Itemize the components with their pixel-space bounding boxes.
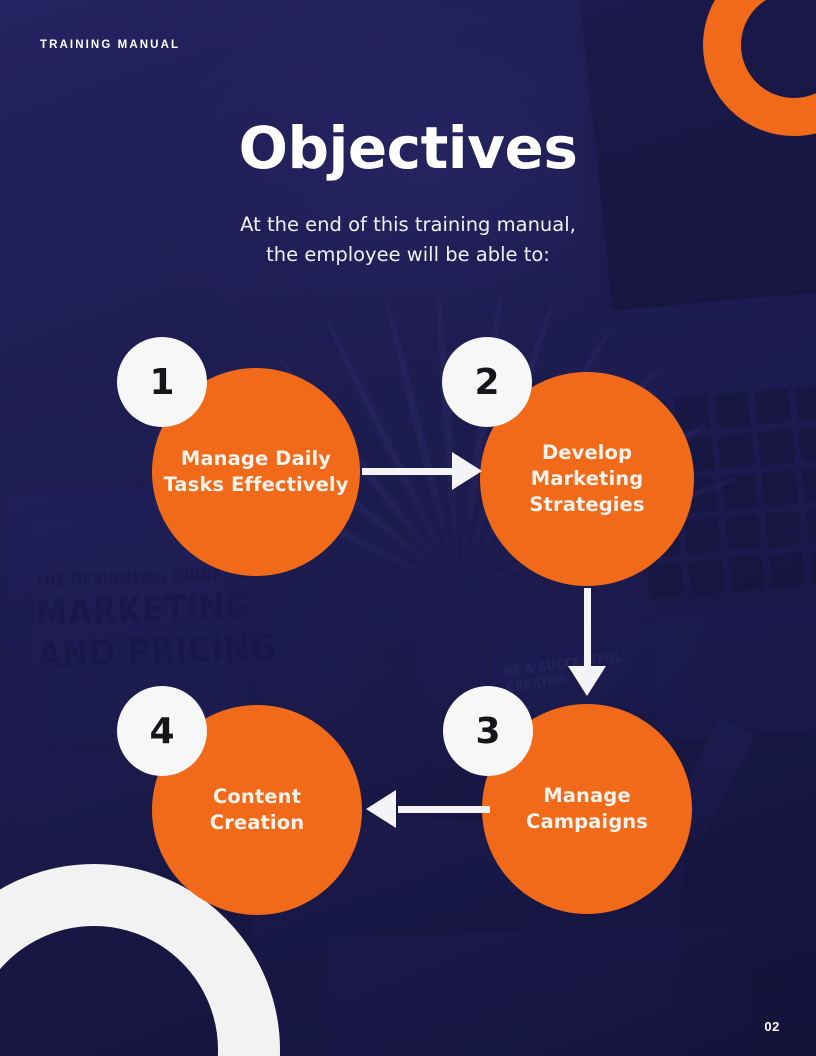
page-title: Objectives <box>0 114 816 182</box>
objective-badge-3: 3 <box>443 686 533 776</box>
objective-label-4-line1: Content <box>210 784 304 810</box>
objective-label-3-line2: Campaigns <box>526 809 648 835</box>
arrow-head <box>452 452 482 490</box>
objective-label-1-line2: Tasks Effectively <box>163 472 348 498</box>
arrow-shaft <box>584 588 591 674</box>
objective-label-4: Content Creation <box>210 784 304 836</box>
arrow-shaft <box>398 806 490 813</box>
page-subtitle: At the end of this training manual, the … <box>0 210 816 270</box>
objective-label-1: Manage Daily Tasks Effectively <box>163 446 348 498</box>
header-kicker: TRAINING MANUAL <box>40 39 180 51</box>
objective-badge-1: 1 <box>117 337 207 427</box>
subtitle-line-2: the employee will be able to: <box>0 240 816 270</box>
objective-label-2-line1: Develop <box>529 440 644 466</box>
objective-label-2-line2: Marketing <box>529 466 644 492</box>
objective-label-3: Manage Campaigns <box>526 783 648 835</box>
objective-label-2-line3: Strategies <box>529 492 644 518</box>
arrow-head <box>366 790 396 828</box>
objective-badge-2: 2 <box>442 337 532 427</box>
arrow-head <box>568 666 606 696</box>
objective-label-1-line1: Manage Daily <box>163 446 348 472</box>
objective-label-3-line1: Manage <box>526 783 648 809</box>
subtitle-line-1: At the end of this training manual, <box>0 210 816 240</box>
objective-label-4-line2: Creation <box>210 810 304 836</box>
slide-page: BE A SUCCESSFUL CREATOR THE DESIGNER'S G… <box>0 0 816 1056</box>
objective-label-2: Develop Marketing Strategies <box>529 440 644 518</box>
arrow-shaft <box>362 468 458 475</box>
page-number: 02 <box>764 1019 780 1034</box>
objective-badge-4: 4 <box>117 686 207 776</box>
